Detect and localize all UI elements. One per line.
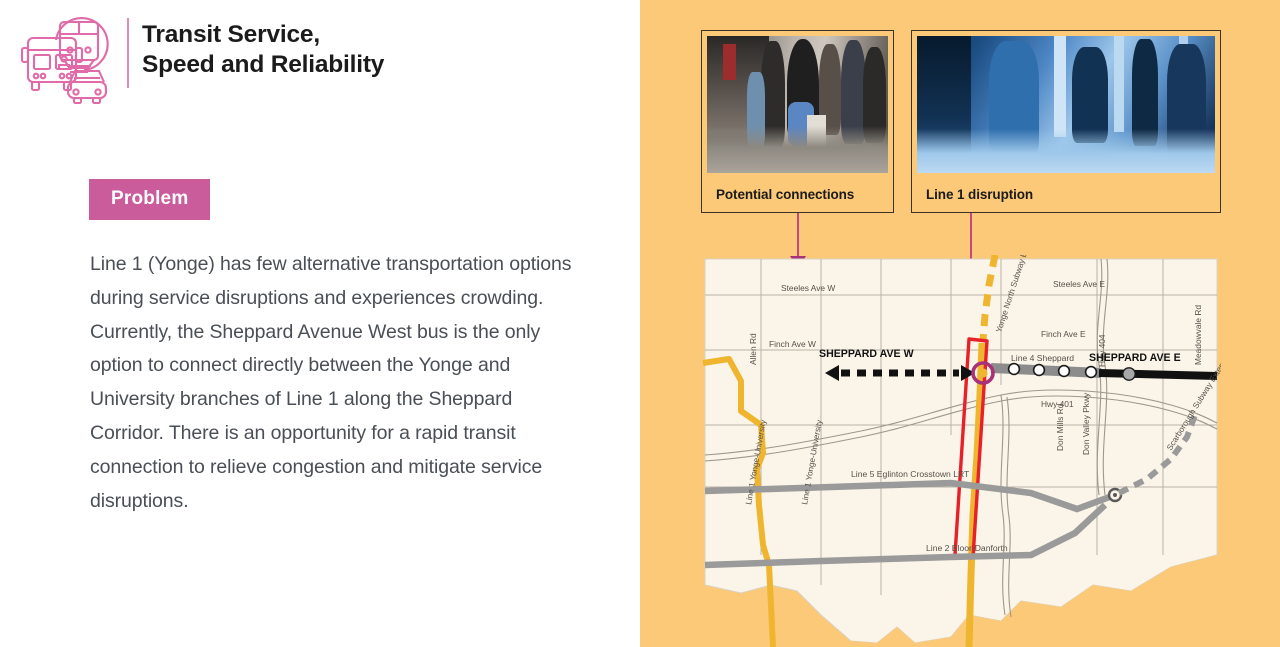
photo-shape — [1072, 47, 1108, 143]
crowded-subway-platform-photo — [917, 36, 1215, 173]
map-street-label: Steeles Ave E — [1053, 279, 1105, 289]
photo-shape — [1132, 39, 1159, 146]
map-corridor-label-east: SHEPPARD AVE E — [1089, 352, 1181, 364]
photo-shape — [989, 41, 1040, 156]
bus-subway-car-icon — [12, 6, 120, 104]
page-title-line-1: Transit Service, — [142, 20, 612, 50]
photo-shape — [863, 47, 887, 143]
map-street-label: Finch Ave E — [1041, 329, 1086, 339]
photo-shape — [807, 115, 827, 151]
photo-shape — [917, 36, 971, 173]
problem-badge: Problem — [89, 179, 210, 220]
left-content-panel: Transit Service, Speed and Reliability P… — [0, 0, 640, 647]
page-title-line-2: Speed and Reliability — [142, 50, 612, 80]
photo-shape — [1054, 36, 1066, 137]
map-street-label: Steeles Ave W — [781, 283, 835, 293]
map-street-label: Don Valley Pkwy — [1081, 392, 1091, 455]
title-divider — [127, 18, 129, 88]
map-street-label: Don Mills Rd — [1055, 403, 1065, 451]
photo-shape — [1167, 44, 1206, 156]
map-transit-label: Line 2 Bloor-Danforth — [926, 543, 1008, 553]
station-dot — [1113, 493, 1117, 497]
photo-card-potential-connections: Potential connections — [701, 30, 894, 213]
street-crowd-boarding-bus-photo — [707, 36, 888, 173]
photo-shape — [747, 72, 765, 149]
photo-card-caption: Potential connections — [702, 176, 893, 212]
problem-body-text: Line 1 (Yonge) has few alternative trans… — [90, 248, 590, 518]
toronto-transit-map: Steeles Ave W Finch Ave W Steeles Ave E … — [701, 255, 1221, 647]
slide: Transit Service, Speed and Reliability P… — [0, 0, 1280, 647]
map-corridor-label-west: SHEPPARD AVE W — [819, 348, 914, 360]
slide-header: Transit Service, Speed and Reliability — [0, 0, 640, 120]
right-visual-panel: Potential connections Line 1 disruption — [640, 0, 1280, 647]
photo-card-caption: Line 1 disruption — [912, 176, 1220, 212]
sheppard-ave-east-corridor — [1099, 373, 1217, 376]
photo-shape — [1114, 36, 1124, 132]
transit-line-4-sheppard — [991, 368, 1101, 373]
map-transit-label: Line 5 Eglinton Crosstown LRT — [851, 469, 970, 479]
sheppard-east-station-marker — [1123, 368, 1135, 380]
connector-line-potential-connections — [797, 213, 799, 261]
photo-card-line-1-disruption: Line 1 disruption — [911, 30, 1221, 213]
map-transit-label: Line 4 Sheppard — [1011, 353, 1074, 363]
map-street-label: Allen Rd — [748, 333, 758, 365]
map-street-label: Finch Ave W — [769, 339, 816, 349]
photo-shape — [723, 44, 736, 80]
map-street-label: Meadowvale Rd — [1193, 305, 1203, 365]
page-title: Transit Service, Speed and Reliability — [142, 20, 612, 80]
